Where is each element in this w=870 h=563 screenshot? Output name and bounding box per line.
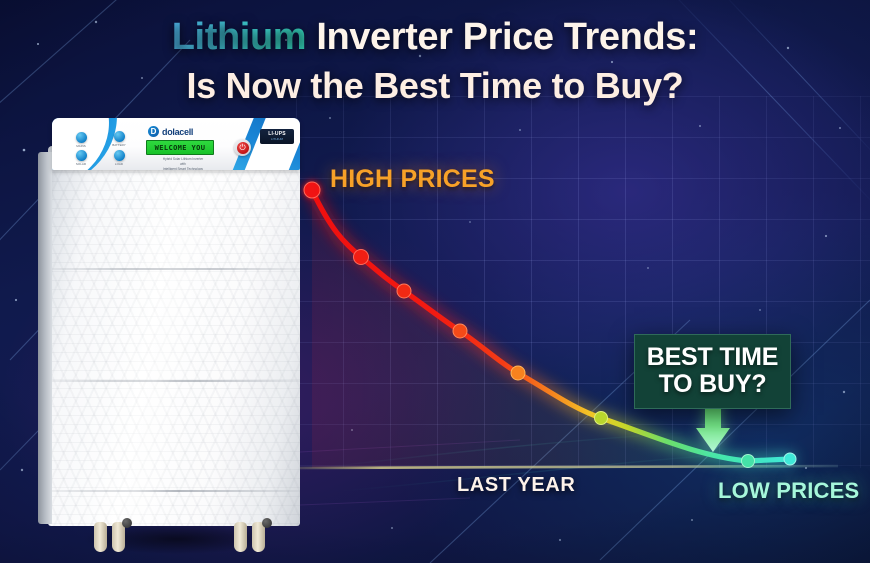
cabinet-seam-3	[48, 490, 300, 492]
cabinet-seam-2	[48, 380, 300, 382]
low-prices-label: LOW PRICES	[718, 478, 859, 504]
best-time-to-buy-callout: BEST TIME TO BUY?	[634, 334, 791, 409]
callout-line-1: BEST TIME	[645, 344, 780, 371]
caster-wheel-3	[234, 522, 247, 552]
data-point-5	[595, 412, 608, 425]
power-button[interactable]: ⏻	[234, 139, 251, 156]
title-highlight-word: Lithium	[172, 16, 306, 58]
indicator-load-label: LOAD	[105, 162, 133, 166]
indicator-solar	[76, 150, 87, 161]
cabinet-seam-1	[48, 268, 300, 270]
title-line-1: Lithium Inverter Price Trends:	[0, 16, 870, 59]
data-point-6	[742, 455, 755, 468]
data-point-7	[784, 453, 796, 465]
brand-logo: D dolacell	[148, 125, 222, 138]
indicator-mains	[76, 132, 87, 143]
caster-cap-2	[262, 518, 272, 528]
callout-line-2: TO BUY?	[645, 371, 780, 398]
lcd-display: WELCOME YOU	[146, 140, 214, 155]
caster-cap-1	[122, 518, 132, 528]
data-point-1	[354, 250, 369, 265]
title-line-2: Is Now the Best Time to Buy?	[0, 65, 870, 107]
inverter-control-panel: D dolacell WELCOME YOU Hybrid Solar Lith…	[52, 118, 300, 170]
badge-subtitle: LITHIUM	[271, 138, 283, 141]
data-point-3	[453, 324, 467, 338]
brand-name: dolacell	[162, 127, 193, 137]
inverter-cabinet-texture	[48, 146, 300, 526]
indicator-battery	[114, 131, 125, 142]
title-line-1-rest: Inverter Price Trends:	[306, 16, 698, 58]
lithium-badge: LI-UPS LITHIUM	[260, 129, 294, 144]
panel-subtitle: Hybrid Solar Lithium Inverter with Intel…	[148, 157, 218, 170]
indicator-load	[114, 150, 125, 161]
poster-canvas: Lithium Inverter Price Trends: Is Now th…	[0, 0, 870, 563]
cabinet-left-edge	[38, 152, 52, 524]
caster-wheel-1	[94, 522, 107, 552]
last-year-label: LAST YEAR	[457, 474, 575, 497]
data-point-2	[397, 284, 411, 298]
power-icon: ⏻	[237, 142, 249, 154]
indicator-mains-label: MAINS	[67, 144, 95, 148]
lithium-inverter-product-image: D dolacell WELCOME YOU Hybrid Solar Lith…	[38, 118, 310, 548]
lcd-text: WELCOME YOU	[155, 144, 206, 152]
brand-mark-icon: D	[148, 126, 159, 137]
high-prices-label: HIGH PRICES	[330, 165, 495, 194]
data-point-4	[511, 366, 525, 380]
poster-title: Lithium Inverter Price Trends: Is Now th…	[0, 16, 870, 107]
indicator-solar-label: SOLAR	[67, 162, 95, 166]
panel-subtitle-3: Intelligent Smart Technology	[148, 167, 218, 170]
indicator-battery-label: BATTERY	[105, 143, 133, 147]
